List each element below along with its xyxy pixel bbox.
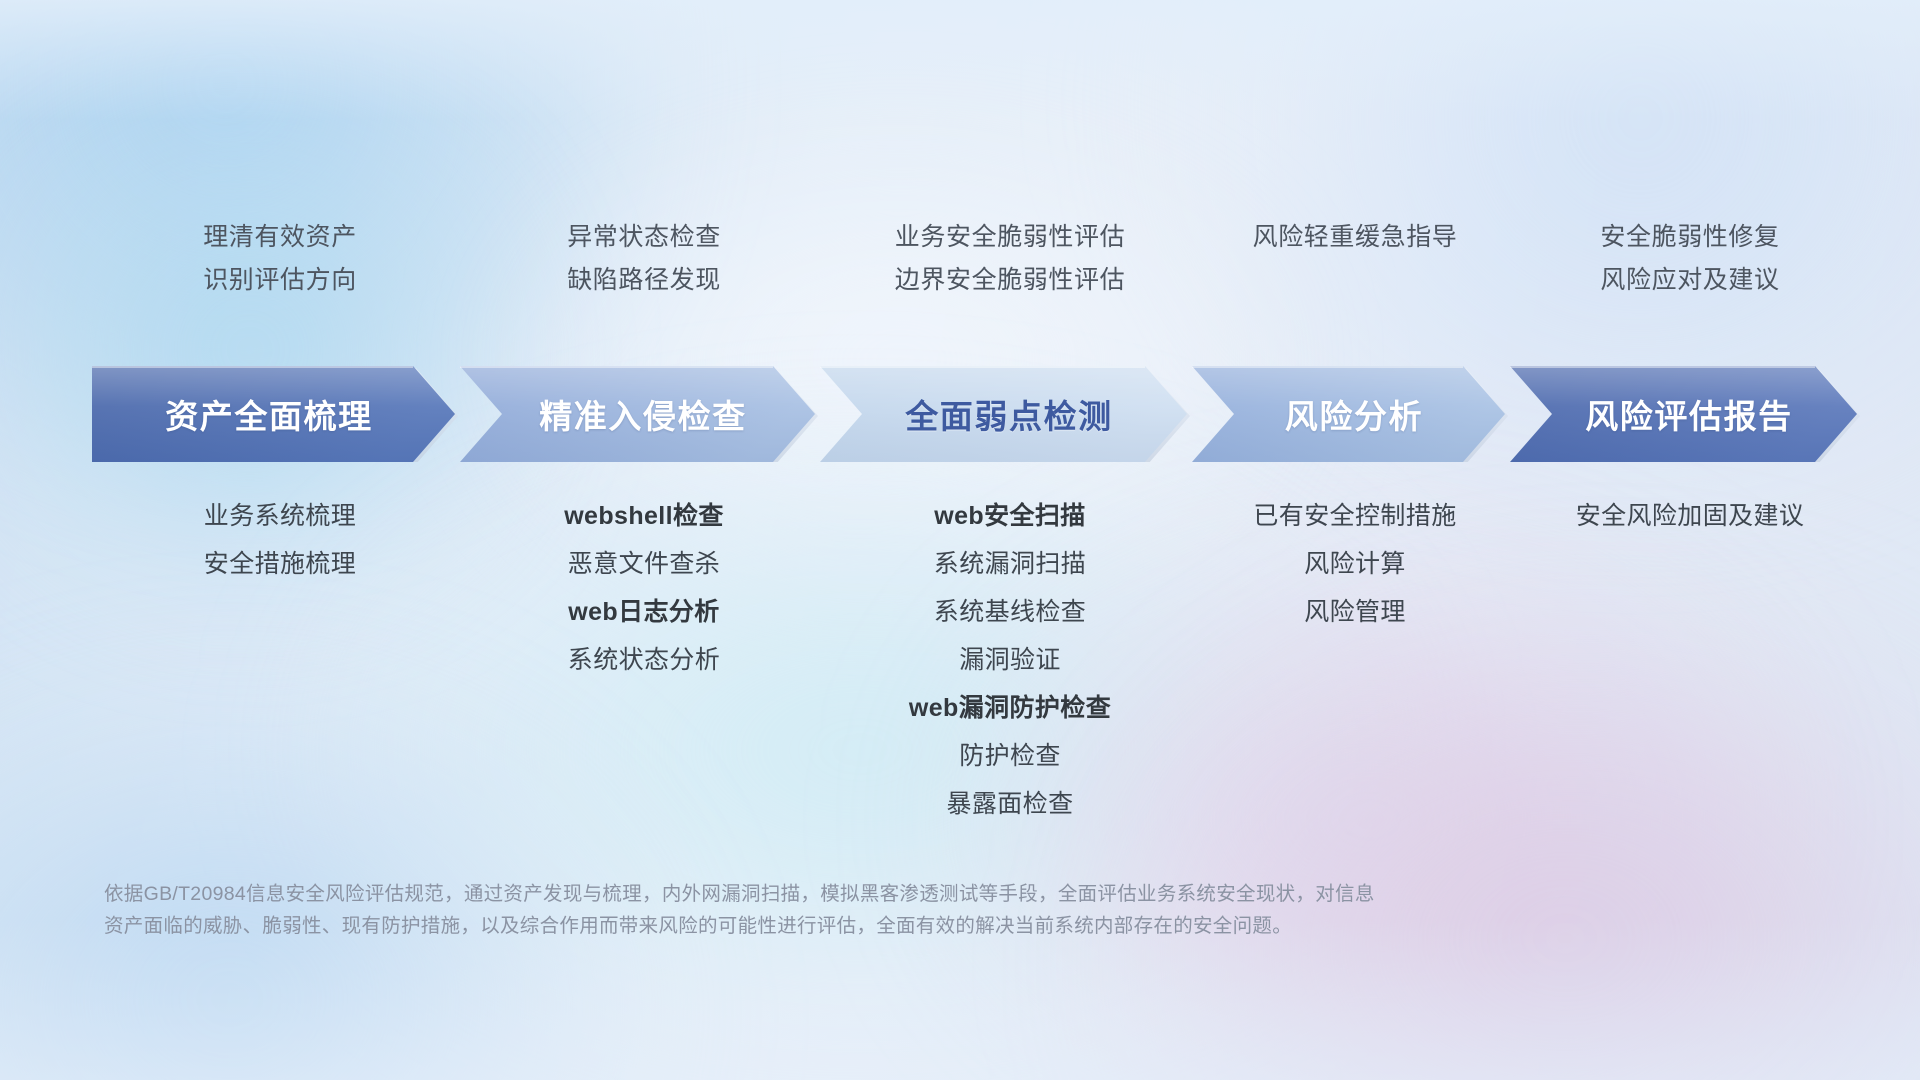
top-description-line: 业务安全脆弱性评估: [895, 222, 1125, 252]
stage-detail-item: 系统漏洞扫描: [934, 548, 1086, 581]
stage-detail-item: 系统基线检查: [934, 596, 1086, 629]
footer-line-1: 依据GB/T20984信息安全风险评估规范，通过资产发现与梳理，内外网漏洞扫描，…: [104, 878, 1664, 910]
process-diagram: 理清有效资产识别评估方向异常状态检查缺陷路径发现业务安全脆弱性评估边界安全脆弱性…: [0, 0, 1920, 1080]
top-description-line: 识别评估方向: [203, 265, 357, 295]
stage-top-description-risk-analysis: 风险轻重缓急指导: [1196, 222, 1514, 342]
stage-arrow-intrusion-check[interactable]: 精准入侵检查: [460, 366, 820, 462]
stage-top-description-weakness-detection: 业务安全脆弱性评估边界安全脆弱性评估: [824, 222, 1196, 342]
stage-arrow-asset-inventory[interactable]: 资产全面梳理: [92, 366, 460, 462]
stage-top-description-asset-inventory: 理清有效资产识别评估方向: [96, 222, 464, 342]
stage-detail-list-risk-analysis: 已有安全控制措施风险计算风险管理: [1196, 500, 1514, 821]
stage-detail-list-assessment-report: 安全风险加固及建议: [1514, 500, 1866, 821]
stage-arrow-label: 精准入侵检查: [539, 390, 747, 438]
stage-arrow-weakness-detection[interactable]: 全面弱点检测: [820, 366, 1192, 462]
stage-detail-item: 已有安全控制措施: [1253, 500, 1456, 533]
stage-detail-item: 安全风险加固及建议: [1576, 500, 1805, 533]
stage-arrow-label: 资产全面梳理: [165, 390, 373, 438]
stage-detail-item: 安全措施梳理: [204, 548, 356, 581]
stage-arrow-assessment-report[interactable]: 风险评估报告: [1510, 366, 1862, 462]
footer-line-2: 资产面临的威胁、脆弱性、现有防护措施，以及综合作用而带来风险的可能性进行评估，全…: [104, 910, 1664, 942]
footer-description: 依据GB/T20984信息安全风险评估规范，通过资产发现与梳理，内外网漏洞扫描，…: [104, 878, 1664, 942]
stage-detail-list-weakness-detection: web安全扫描系统漏洞扫描系统基线检查漏洞验证web漏洞防护检查防护检查暴露面检…: [824, 500, 1196, 821]
stage-detail-item: web漏洞防护检查: [909, 692, 1111, 725]
top-description-line: 风险轻重缓急指导: [1253, 222, 1458, 252]
stage-top-descriptions-row: 理清有效资产识别评估方向异常状态检查缺陷路径发现业务安全脆弱性评估边界安全脆弱性…: [96, 222, 1864, 342]
stage-detail-item: 风险计算: [1304, 548, 1406, 581]
stage-top-description-intrusion-check: 异常状态检查缺陷路径发现: [464, 222, 824, 342]
stage-bottom-details-row: 业务系统梳理安全措施梳理webshell检查恶意文件查杀web日志分析系统状态分…: [96, 500, 1864, 821]
top-description-line: 理清有效资产: [203, 222, 357, 252]
stage-arrow-band: 资产全面梳理精准入侵检查全面弱点检测风险分析风险评估报告: [92, 366, 1862, 462]
stage-detail-item: 业务系统梳理: [204, 500, 356, 533]
stage-top-description-assessment-report: 安全脆弱性修复风险应对及建议: [1514, 222, 1866, 342]
stage-detail-item: 恶意文件查杀: [568, 548, 720, 581]
stage-detail-item: 系统状态分析: [568, 644, 720, 677]
stage-detail-item: 风险管理: [1304, 596, 1406, 629]
stage-detail-list-asset-inventory: 业务系统梳理安全措施梳理: [96, 500, 464, 821]
stage-detail-item: 暴露面检查: [946, 788, 1073, 821]
stage-detail-item: 漏洞验证: [959, 644, 1061, 677]
stage-arrow-label: 全面弱点检测: [905, 390, 1113, 438]
stage-detail-item: web安全扫描: [934, 500, 1085, 533]
top-description-line: 安全脆弱性修复: [1600, 222, 1779, 252]
stage-detail-item: web日志分析: [568, 596, 719, 629]
stage-arrow-label: 风险评估报告: [1585, 390, 1793, 438]
top-description-line: 缺陷路径发现: [567, 265, 721, 295]
stage-detail-list-intrusion-check: webshell检查恶意文件查杀web日志分析系统状态分析: [464, 500, 824, 821]
top-description-line: 异常状态检查: [567, 222, 721, 252]
stage-arrow-risk-analysis[interactable]: 风险分析: [1192, 366, 1510, 462]
stage-detail-item: webshell检查: [564, 500, 724, 533]
stage-detail-item: 防护检查: [959, 740, 1061, 773]
top-description-line: 风险应对及建议: [1600, 265, 1779, 295]
stage-arrow-label: 风险分析: [1285, 390, 1423, 438]
top-description-line: 边界安全脆弱性评估: [895, 265, 1125, 295]
